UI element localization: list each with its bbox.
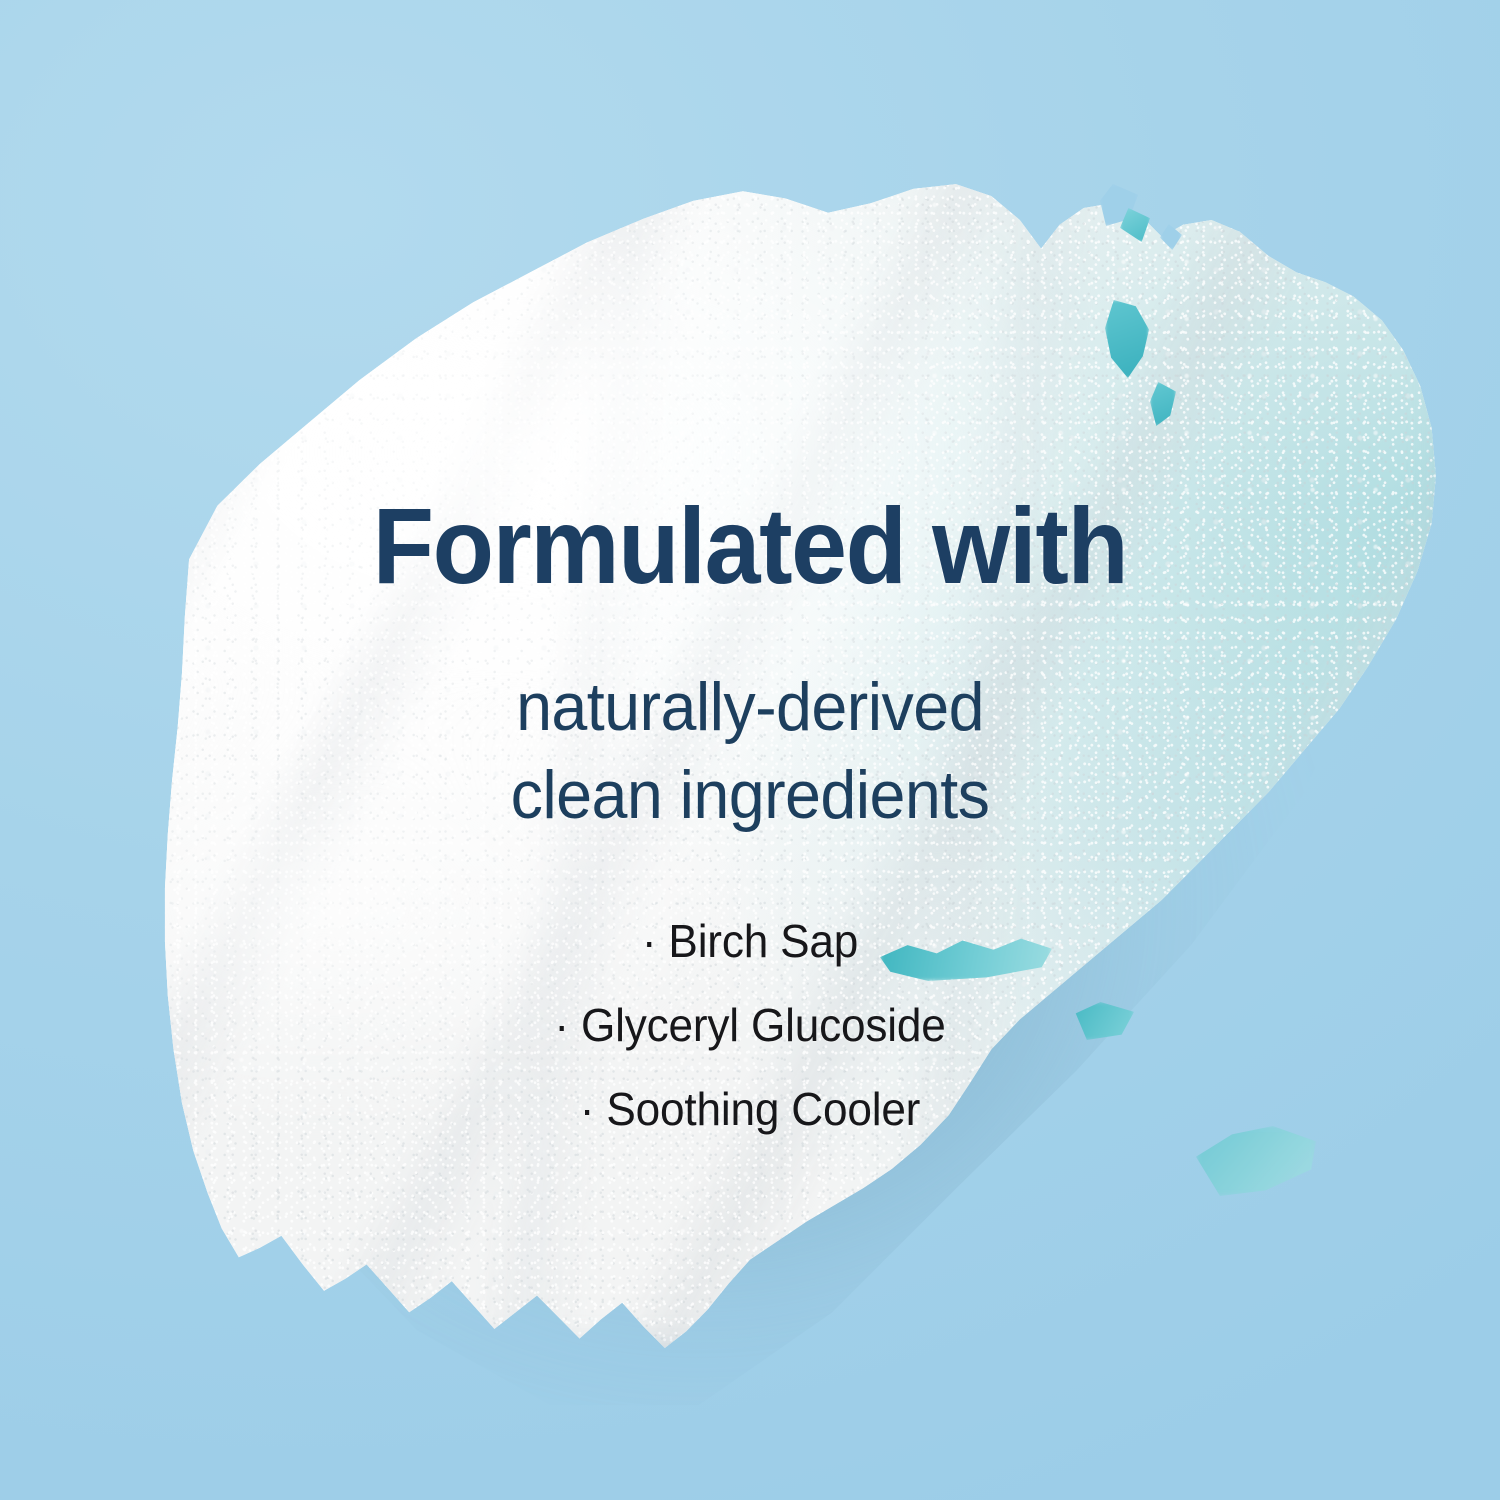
ingredient-list: · Birch Sap · Glyceryl Glucoside · Sooth… <box>0 918 1500 1132</box>
ingredient-item-birch-sap: · Birch Sap <box>30 918 1470 964</box>
product-marketing-image: Formulated with naturally-derived clean … <box>0 0 1500 1500</box>
subheadline-line-2: clean ingredients <box>38 751 1463 839</box>
ingredient-item-glyceryl-glucoside: · Glyceryl Glucoside <box>30 1002 1470 1048</box>
marketing-copy-block: Formulated with naturally-derived clean … <box>0 0 1500 1500</box>
subheadline: naturally-derived clean ingredients <box>38 663 1463 840</box>
ingredient-item-soothing-cooler: · Soothing Cooler <box>30 1086 1470 1132</box>
subheadline-line-1: naturally-derived <box>38 663 1463 751</box>
headline: Formulated with <box>53 492 1448 600</box>
